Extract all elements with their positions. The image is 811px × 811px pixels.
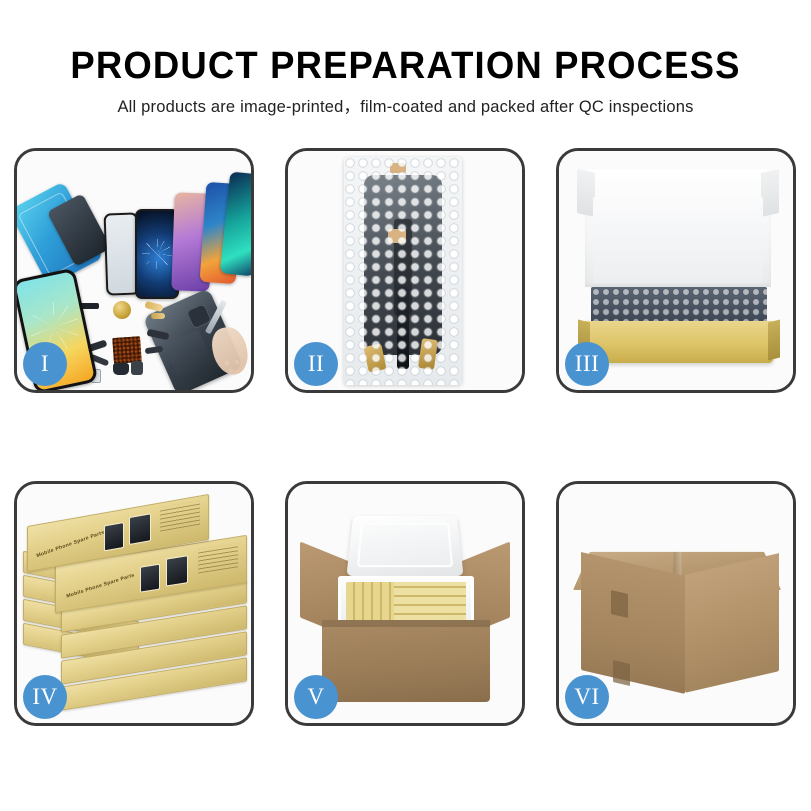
vibration-motor-icon bbox=[113, 301, 131, 319]
product-preparation-infographic: PRODUCT PREPARATION PROCESS All products… bbox=[0, 0, 811, 811]
process-step-5[interactable]: V bbox=[285, 481, 525, 726]
gold-connector-icon bbox=[418, 338, 438, 370]
tape-strip-icon bbox=[388, 229, 406, 243]
packed-gold-boxes-icon bbox=[346, 582, 466, 622]
screen-thumbnail-icon bbox=[166, 555, 188, 586]
screen-thumbnail-icon bbox=[104, 522, 124, 552]
gold-connector-icon bbox=[144, 301, 163, 312]
process-step-1[interactable]: I bbox=[14, 148, 254, 393]
process-step-2[interactable]: II bbox=[285, 148, 525, 393]
carton-front-panel-icon bbox=[322, 620, 490, 702]
gold-box-tray-icon bbox=[585, 321, 773, 363]
lid-inner-panel-icon bbox=[593, 197, 763, 283]
step-badge-2: II bbox=[294, 342, 338, 386]
carton-left-face-icon bbox=[581, 552, 685, 694]
connector-chip-icon bbox=[112, 336, 142, 364]
screen-thumbnail-icon bbox=[140, 564, 160, 593]
step-badge-3: III bbox=[565, 342, 609, 386]
process-step-4[interactable]: Mobile Phone Spare Parts Mobile Phone Sp… bbox=[14, 481, 254, 726]
tape-patch-icon bbox=[613, 660, 630, 686]
carton-right-face-icon bbox=[685, 553, 779, 693]
process-step-6[interactable]: VI bbox=[556, 481, 796, 726]
camera-module-icon bbox=[131, 361, 143, 375]
spec-lines-icon bbox=[198, 543, 238, 573]
step-badge-6: VI bbox=[565, 675, 609, 719]
flex-cable-icon bbox=[397, 287, 409, 369]
bubble-wrap-pouch-icon bbox=[344, 157, 462, 385]
box-label-text: Mobile Phone Spare Parts bbox=[66, 572, 135, 599]
tape-strip-icon bbox=[390, 163, 406, 173]
spec-lines-icon bbox=[160, 501, 200, 532]
process-step-grid: I II bbox=[14, 148, 797, 726]
step-badge-1: I bbox=[23, 342, 67, 386]
step-badge-4: IV bbox=[23, 675, 67, 719]
step-badge-5: V bbox=[294, 675, 338, 719]
bubble-wrapped-contents-icon bbox=[591, 287, 767, 323]
foam-lid-icon bbox=[346, 516, 463, 576]
page-title: PRODUCT PREPARATION PROCESS bbox=[16, 44, 795, 88]
screen-thumbnail-icon bbox=[129, 513, 151, 545]
box-label-text: Mobile Phone Spare Parts bbox=[36, 530, 105, 560]
page-subtitle: All products are image-printed，film-coat… bbox=[0, 96, 811, 118]
process-step-3[interactable]: III bbox=[556, 148, 796, 393]
gold-connector-icon bbox=[151, 313, 165, 319]
loudspeaker-module-icon bbox=[113, 363, 129, 375]
tape-patch-icon bbox=[611, 590, 628, 618]
header: PRODUCT PREPARATION PROCESS All products… bbox=[0, 44, 811, 118]
